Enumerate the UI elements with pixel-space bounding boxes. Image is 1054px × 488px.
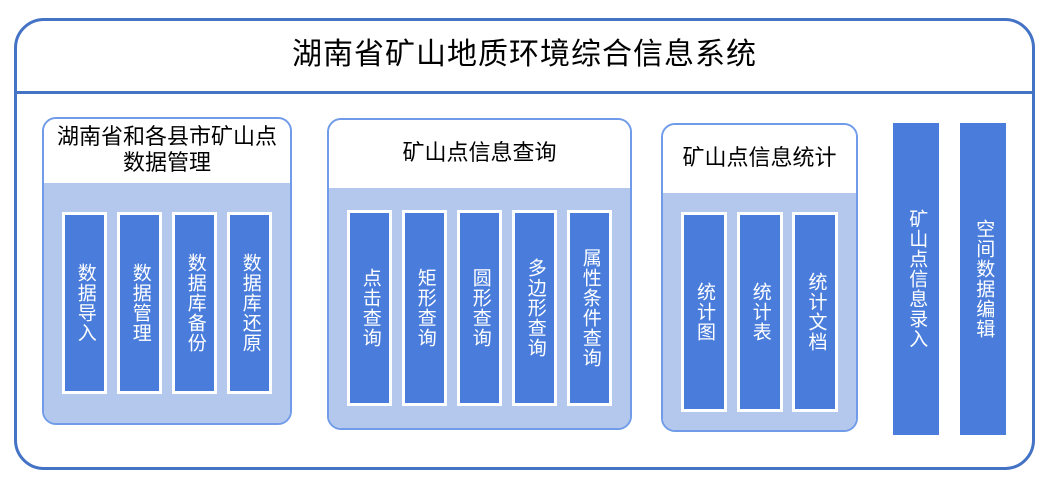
module-title: 矿山点信息统计: [682, 145, 836, 171]
module-item-database-restore[interactable]: 数据库还原: [227, 212, 272, 394]
system-title: 湖南省矿山地质环境综合信息系统: [292, 40, 757, 70]
module-title: 湖南省和各县市矿山点 数据管理: [57, 124, 277, 176]
module-item-click-query[interactable]: 点击查询: [347, 210, 392, 406]
module-item-rectangle-query[interactable]: 矩形查询: [402, 210, 447, 406]
module-header: 矿山点信息查询: [329, 120, 630, 188]
system-title-band: 湖南省矿山地质环境综合信息系统: [14, 18, 1035, 94]
module-item-data-import[interactable]: 数据导入: [62, 212, 107, 394]
module-body: 统计图 统计表 统计文档: [663, 193, 856, 430]
module-title: 矿山点信息查询: [402, 140, 556, 166]
module-mine-point-statistics[interactable]: 矿山点信息统计 统计图 统计表 统计文档: [661, 123, 858, 432]
module-spatial-data-editing[interactable]: 空间数据编辑: [960, 123, 1006, 435]
module-item-attribute-condition-query[interactable]: 属性条件查询: [567, 210, 612, 406]
module-item-statistics-document[interactable]: 统计文档: [792, 212, 838, 412]
module-item-polygon-query[interactable]: 多边形查询: [512, 210, 557, 406]
module-item-data-management[interactable]: 数据管理: [117, 212, 162, 394]
diagram-canvas: 湖南省矿山地质环境综合信息系统 湖南省和各县市矿山点 数据管理 数据导入 数据管…: [0, 0, 1054, 488]
module-body: 数据导入 数据管理 数据库备份 数据库还原: [44, 183, 290, 423]
module-mine-point-query[interactable]: 矿山点信息查询 点击查询 矩形查询 圆形查询 多边形查询 属性条件查询: [327, 118, 632, 430]
module-item-circle-query[interactable]: 圆形查询: [457, 210, 502, 406]
module-item-database-backup[interactable]: 数据库备份: [172, 212, 217, 394]
module-data-management[interactable]: 湖南省和各县市矿山点 数据管理 数据导入 数据管理 数据库备份 数据库还原: [42, 117, 292, 425]
module-mine-point-data-entry[interactable]: 矿山点信息录入: [893, 123, 939, 435]
module-header: 湖南省和各县市矿山点 数据管理: [44, 119, 290, 183]
module-header: 矿山点信息统计: [663, 125, 856, 193]
module-body: 点击查询 矩形查询 圆形查询 多边形查询 属性条件查询: [329, 188, 630, 428]
module-item-statistics-chart[interactable]: 统计图: [681, 212, 727, 412]
module-item-statistics-table[interactable]: 统计表: [737, 212, 783, 412]
